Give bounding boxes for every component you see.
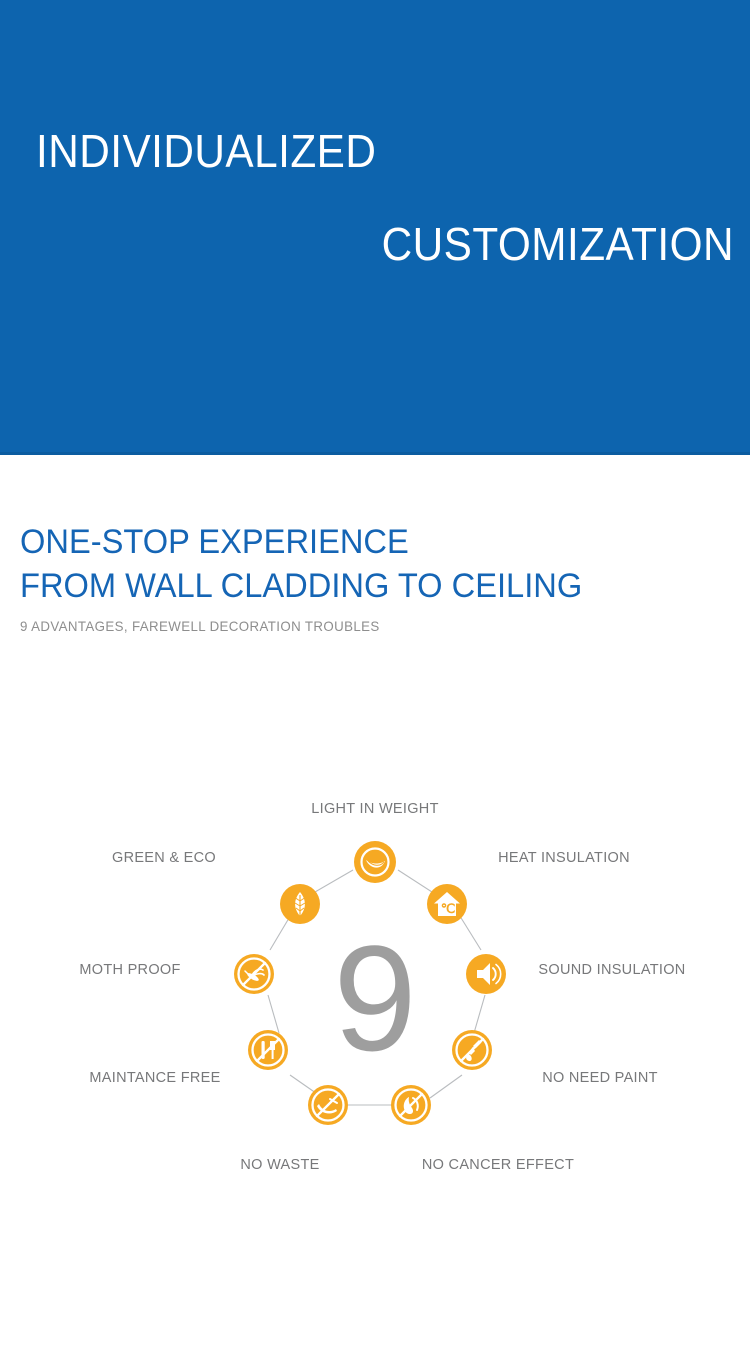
node-label-moth-proof: MOTH PROOF	[79, 962, 180, 978]
advantages-ring-diagram: 9 LIGHT IN WEIGHT ℃ HEAT INSULATION	[0, 780, 750, 1190]
node-moth-proof[interactable]	[234, 954, 274, 994]
node-label-sound-insulation: SOUND INSULATION	[538, 962, 685, 978]
node-sound-insulation[interactable]	[466, 954, 506, 994]
node-green-and-eco[interactable]	[280, 884, 320, 924]
node-maintance-free[interactable]	[248, 1030, 288, 1070]
hero-title-line-2: CUSTOMIZATION	[382, 221, 734, 267]
node-light-in-weight[interactable]	[354, 841, 396, 883]
node-heat-insulation[interactable]: ℃	[427, 884, 467, 924]
node-label-no-waste: NO WASTE	[240, 1157, 319, 1173]
center-count: 9	[333, 914, 416, 1082]
node-label-no-need-paint: NO NEED PAINT	[542, 1070, 658, 1086]
node-label-light-in-weight: LIGHT IN WEIGHT	[311, 801, 439, 817]
node-label-green-and-eco: GREEN & ECO	[112, 850, 216, 866]
svg-text:℃: ℃	[441, 901, 456, 916]
section-heading-line-2: FROM WALL CLADDING TO CEILING	[20, 564, 705, 608]
hero-title-line-1: INDIVIDUALIZED	[36, 128, 376, 174]
section-subheading: 9 ADVANTAGES, FAREWELL DECORATION TROUBL…	[20, 618, 698, 634]
section-heading-line-1: ONE-STOP EXPERIENCE	[20, 520, 705, 564]
node-label-maintance-free: MAINTANCE FREE	[89, 1070, 220, 1086]
node-no-need-paint[interactable]	[452, 1030, 492, 1070]
hero-banner: INDIVIDUALIZED CUSTOMIZATION	[0, 0, 750, 455]
node-label-heat-insulation: HEAT INSULATION	[498, 850, 630, 866]
node-badge	[354, 841, 396, 883]
node-no-waste[interactable]	[308, 1085, 348, 1125]
node-label-no-cancer-effect: NO CANCER EFFECT	[422, 1157, 574, 1173]
node-no-cancer-effect[interactable]	[391, 1085, 431, 1125]
section-heading-block: ONE-STOP EXPERIENCE FROM WALL CLADDING T…	[20, 520, 734, 634]
